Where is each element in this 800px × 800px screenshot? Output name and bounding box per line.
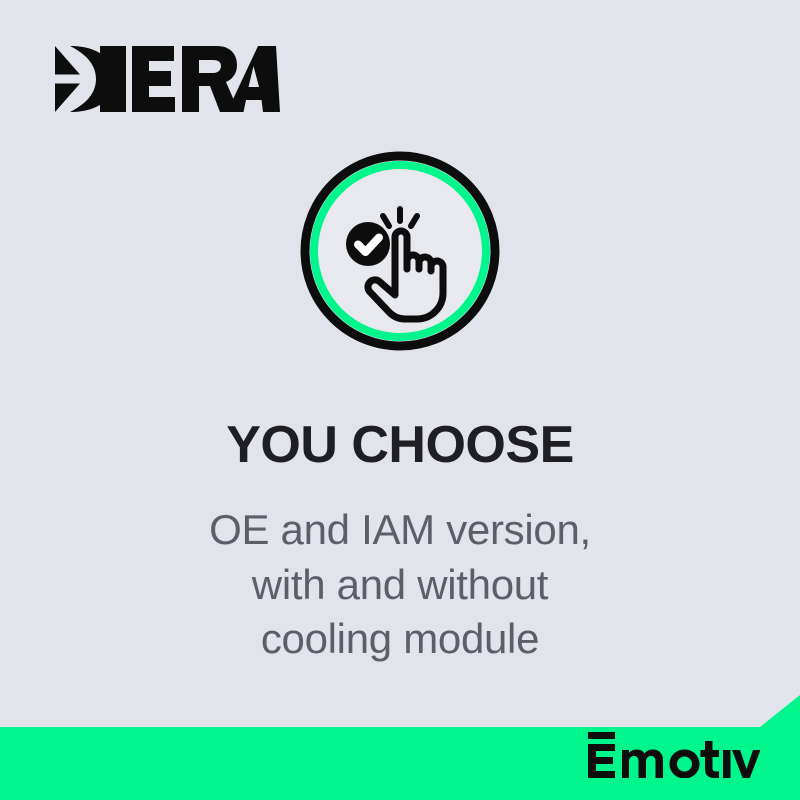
subcopy-block: OE and IAM version, with and without coo… [0,503,800,667]
era-wordmark [132,44,280,114]
subcopy-line-1: OE and IAM version, [0,503,800,558]
subcopy-line-2: with and without [0,558,800,613]
footer-band [0,695,800,800]
subcopy-line-3: cooling module [0,612,800,667]
promo-canvas: YOU CHOOSE OE and IAM version, with and … [0,0,800,800]
page-title: YOU CHOOSE [0,418,800,473]
era-brand-lockup [50,44,280,114]
era-d-mark-icon [50,44,128,114]
check-circle-icon [346,222,390,266]
choose-badge [300,151,500,351]
emotive-logo [588,732,760,778]
click-choose-icon [300,151,500,351]
